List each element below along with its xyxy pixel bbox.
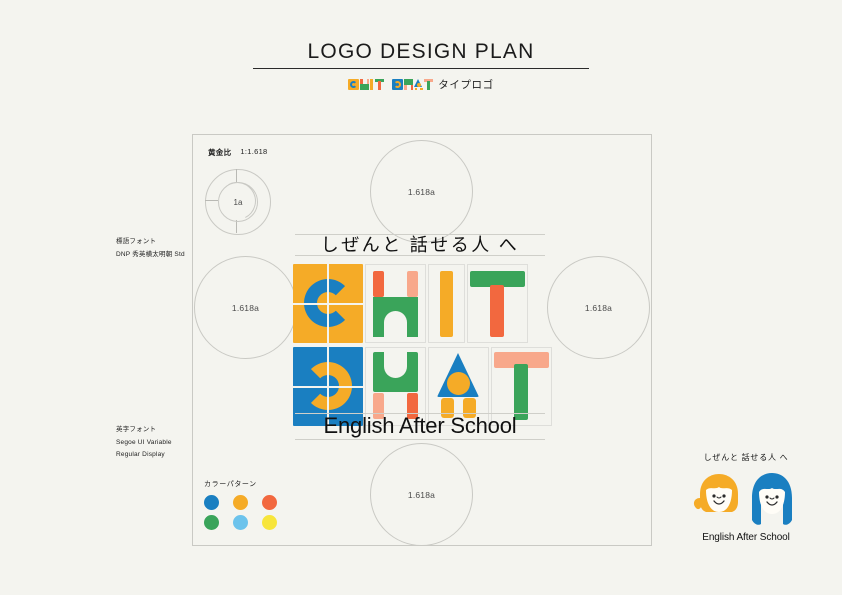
- title-underline: [253, 68, 589, 69]
- swatch-coral: [262, 495, 277, 510]
- t-top-stem: [490, 285, 504, 337]
- mini-letter-c2: [392, 79, 403, 90]
- ratio-circle-bottom: 1.618a: [370, 443, 473, 546]
- mini-letter-t1: [375, 79, 384, 90]
- a-counter-circle: [447, 372, 470, 395]
- h-top-arch-cut: [384, 311, 407, 337]
- en-font-name: Segoe UI Variable: [116, 437, 172, 448]
- wordmark-row-chit: [293, 264, 528, 343]
- en-font-style: Regular Display: [116, 449, 172, 460]
- jp-font-heading: 標語フォント: [116, 236, 185, 247]
- golden-ratio-value: 1:1.618: [240, 147, 267, 158]
- subtitle-text: タイプロゴ: [438, 77, 494, 92]
- subline-rule-bottom: [295, 439, 545, 440]
- logo-letter-i-top: [428, 264, 465, 343]
- mascot-caption: English After School: [676, 532, 816, 543]
- annotation-en-font: 英字フォント Segoe UI Variable Regular Display: [116, 424, 172, 460]
- construction-circle-inner: 1a: [218, 182, 258, 222]
- mascot-girl: [752, 473, 792, 525]
- mini-letter-i1: [370, 79, 374, 90]
- ratio-circle-top: 1.618a: [370, 140, 473, 243]
- ratio-circle-right: 1.618a: [547, 256, 650, 359]
- swatch-light-blue: [233, 515, 248, 530]
- logo-construction: しぜんと 話せる人 へ: [293, 229, 547, 443]
- golden-ratio-title: 黄金比: [208, 147, 231, 158]
- mini-letter-t2: [424, 79, 433, 90]
- mini-letter-a2: [414, 79, 423, 90]
- swatch-amber: [233, 495, 248, 510]
- construction-tick-top: [236, 169, 237, 182]
- mini-letter-h1: [360, 79, 369, 90]
- annotation-jp-font: 標語フォント DNP 秀英横太明朝 Std: [116, 236, 185, 261]
- swatch-yellow: [262, 515, 277, 530]
- mini-logo-chit: [348, 78, 384, 91]
- color-pattern-section: カラーパターン: [204, 479, 284, 530]
- color-swatch-grid: [204, 495, 284, 530]
- h-bottom-arch-cut: [384, 352, 407, 378]
- tagline-rule-bottom: [295, 255, 545, 256]
- mascot-lockup: しぜんと 話せる人 へ English After S: [676, 452, 816, 550]
- header-subtitle: タイプロゴ: [0, 77, 842, 92]
- logo-letter-h-top: [365, 264, 426, 343]
- i-top-stem: [440, 271, 453, 337]
- h-top-right-stem: [407, 271, 418, 297]
- mascot-boy: [694, 474, 738, 512]
- mascot-illustration: [684, 468, 808, 530]
- page-title: LOGO DESIGN PLAN: [0, 40, 842, 64]
- logo-subline: English After School: [293, 411, 547, 441]
- mini-letter-h2: [404, 79, 413, 90]
- construction-tick-left: [205, 200, 218, 201]
- mascot-tagline: しぜんと 話せる人 へ: [676, 452, 816, 463]
- swatch-green: [204, 515, 219, 530]
- mini-letter-c1: [348, 79, 359, 90]
- en-font-heading: 英字フォント: [116, 424, 172, 435]
- color-pattern-title: カラーパターン: [204, 479, 284, 489]
- ratio-circle-left: 1.618a: [194, 256, 297, 359]
- poster-canvas: LOGO DESIGN PLAN: [0, 0, 842, 595]
- jp-font-name: DNP 秀英横太明朝 Std: [116, 249, 185, 260]
- golden-ratio-label: 黄金比 1:1.618: [208, 147, 268, 158]
- swatch-blue: [204, 495, 219, 510]
- h-top-left-stem: [373, 271, 384, 297]
- logo-letter-c-top: [293, 264, 363, 343]
- logo-letter-t-top: [467, 264, 528, 343]
- mini-logo-chat: [392, 78, 433, 91]
